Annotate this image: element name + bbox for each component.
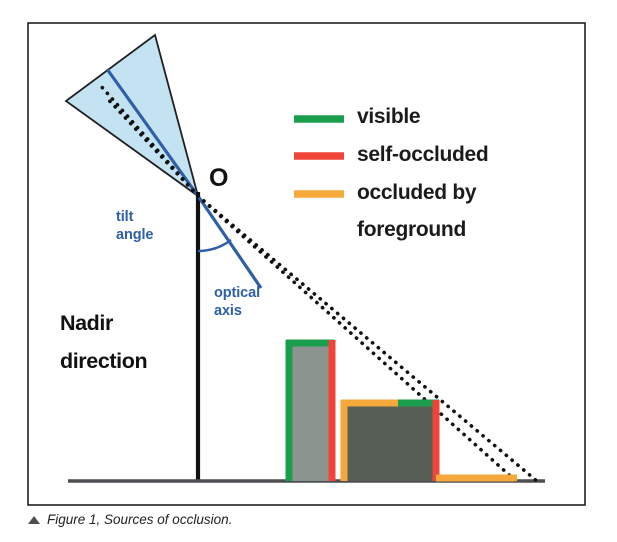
optical-axis-label-line1: optical	[214, 286, 260, 302]
legend-label-visible: visible	[357, 106, 420, 129]
apex-label-o: O	[209, 165, 228, 192]
legend-label-foreground: foreground	[357, 219, 466, 242]
optical-axis-label-line2: axis	[214, 304, 242, 320]
legend-label-self-occluded: self-occluded	[357, 144, 488, 167]
nadir-label-line2: direction	[60, 350, 147, 373]
caption-triangle-icon	[28, 516, 40, 524]
front-building-body	[286, 340, 335, 481]
tilt-angle-label-line2: angle	[116, 228, 153, 244]
figure-container: visible self-occluded occluded by foregr…	[0, 0, 617, 542]
back-building-body	[347, 400, 436, 481]
figure-caption-text: Figure 1, Sources of occlusion.	[47, 512, 232, 527]
occlusion-diagram	[0, 0, 617, 542]
nadir-label-line1: Nadir	[60, 312, 113, 335]
tilt-angle-label-line1: tilt	[116, 210, 133, 226]
figure-caption-row: Figure 1, Sources of occlusion.	[28, 512, 232, 527]
legend-label-occluded-by: occluded by	[357, 182, 476, 205]
